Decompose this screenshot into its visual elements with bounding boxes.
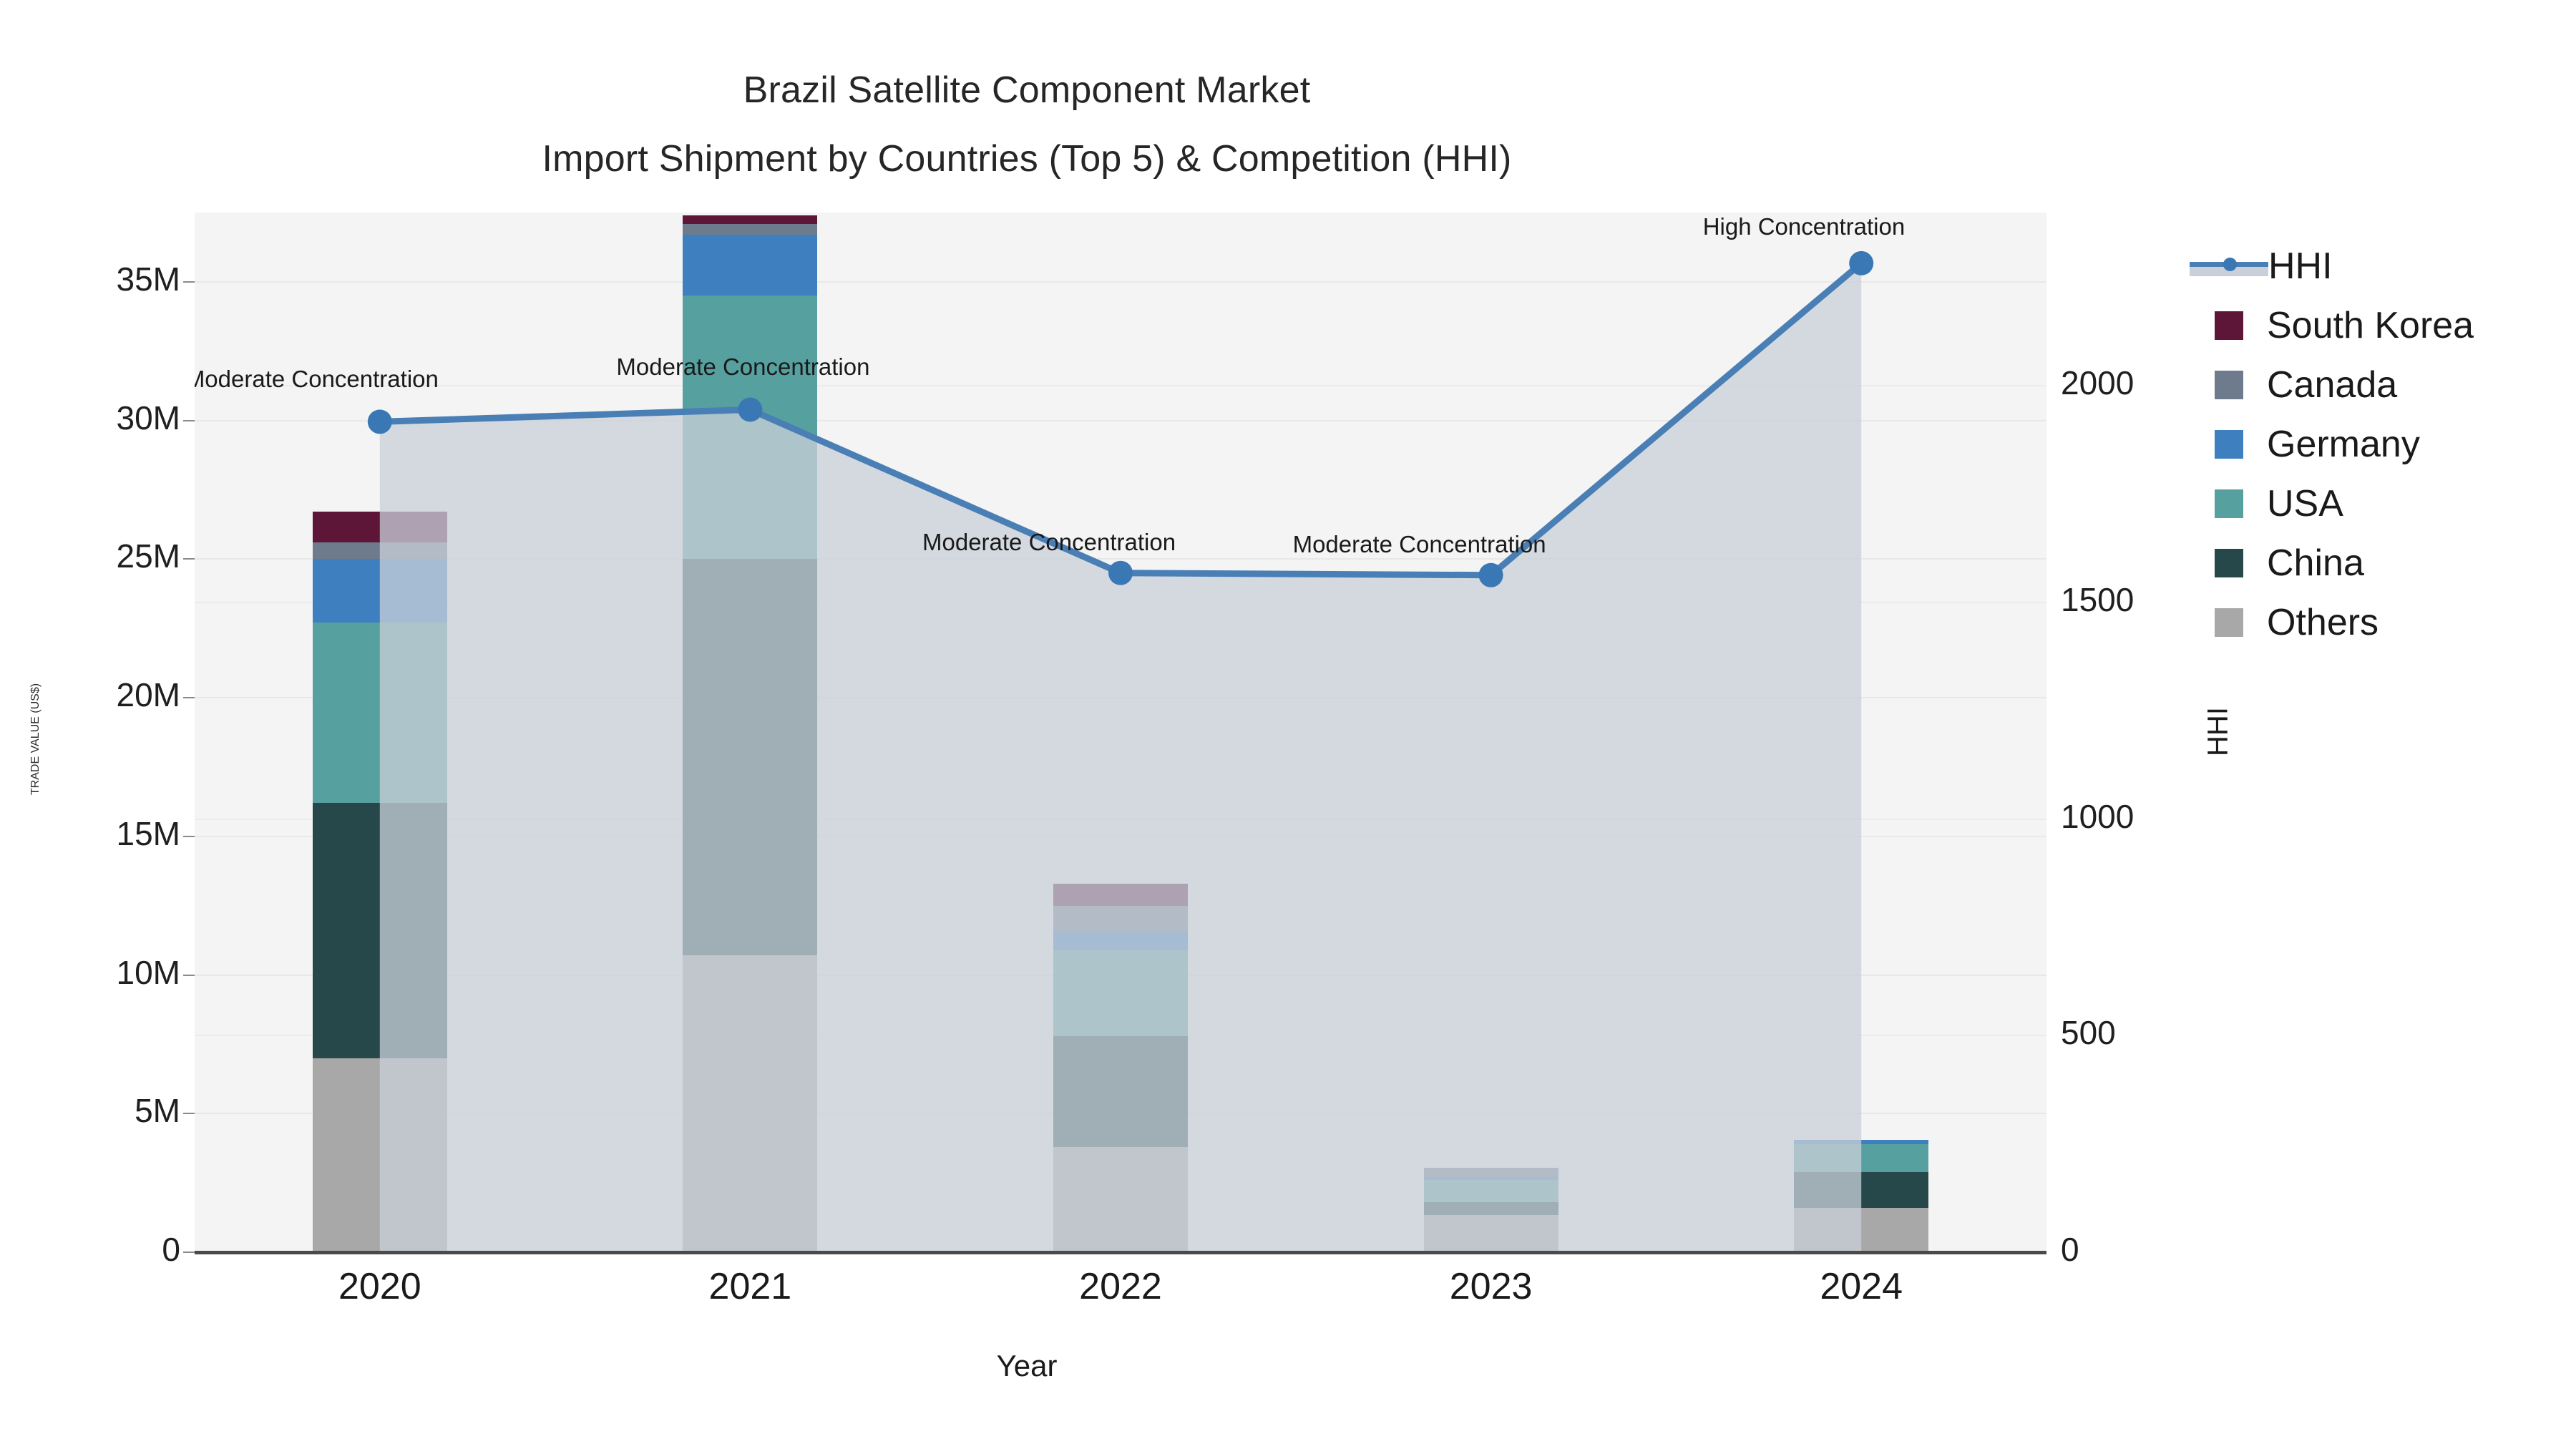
legend: HHISouth KoreaCanadaGermanyUSAChinaOther… [2190, 236, 2474, 652]
hhi-annotation-2021: Moderate Concentration [616, 353, 869, 381]
bar-segment-china[interactable] [1794, 1172, 1928, 1208]
legend-swatch-others [2215, 608, 2243, 637]
y-axis-left-tickmark [183, 1113, 195, 1114]
y-axis-left-tickmark [183, 975, 195, 976]
y-axis-left-title: TRADE VALUE (US$) [29, 525, 42, 954]
bar-segment-china[interactable] [1424, 1202, 1558, 1214]
x-axis-tick-label: 2020 [273, 1265, 487, 1308]
legend-swatch-china [2215, 549, 2243, 577]
bar-segment-usa[interactable] [1053, 950, 1188, 1036]
bar-segment-canada[interactable] [683, 224, 817, 235]
bar-segment-germany[interactable] [1794, 1140, 1928, 1144]
legend-label: Others [2267, 601, 2379, 644]
x-axis-tick-label: 2023 [1384, 1265, 1599, 1308]
legend-label: China [2267, 542, 2364, 585]
legend-label: HHI [2268, 245, 2333, 288]
bar-segment-germany[interactable] [313, 559, 447, 623]
legend-item-germany[interactable]: Germany [2190, 414, 2474, 474]
x-axis-line [195, 1251, 2046, 1254]
bar-segment-others[interactable] [1794, 1208, 1928, 1252]
legend-line-marker [2223, 258, 2237, 271]
y-axis-left-tickmark [183, 420, 195, 421]
bar-segment-canada[interactable] [1424, 1168, 1558, 1178]
hhi-annotation-2024: High Concentration [1703, 213, 1906, 240]
bar-segment-china[interactable] [683, 559, 817, 955]
bar-segment-china[interactable] [313, 803, 447, 1058]
y-axis-right-tick-label: 500 [2061, 1013, 2233, 1052]
hhi-annotation-2023: Moderate Concentration [1293, 531, 1546, 558]
bar-segment-others[interactable] [1424, 1215, 1558, 1252]
chart-root: Brazil Satellite Component Market Import… [0, 0, 2576, 1449]
bar-segment-usa[interactable] [683, 296, 817, 559]
x-axis-title: Year [0, 1349, 2054, 1383]
y-axis-left-tick-label: 5M [9, 1091, 180, 1130]
x-axis-tick-label: 2024 [1754, 1265, 1968, 1308]
bar-segment-others[interactable] [1053, 1147, 1188, 1252]
plot-area: Moderate ConcentrationModerate Concentra… [195, 213, 2046, 1252]
bar-segment-usa[interactable] [313, 623, 447, 803]
chart-title-line-1: Brazil Satellite Component Market [0, 56, 2054, 125]
plot-inner: Moderate ConcentrationModerate Concentra… [195, 213, 2046, 1252]
bar-segment-others[interactable] [313, 1058, 447, 1252]
bar-segment-usa[interactable] [1424, 1180, 1558, 1202]
y-axis-right-tick-label: 1000 [2061, 797, 2233, 836]
legend-swatch-south-korea [2215, 311, 2243, 340]
x-axis-tick-label: 2021 [643, 1265, 857, 1308]
legend-label: Germany [2267, 423, 2420, 466]
bar-segment-canada[interactable] [1053, 906, 1188, 931]
chart-title-line-2: Import Shipment by Countries (Top 5) & C… [0, 125, 2054, 193]
bar-stack-2024[interactable] [1794, 213, 1928, 1252]
legend-item-hhi[interactable]: HHI [2190, 236, 2474, 296]
bar-segment-germany[interactable] [683, 235, 817, 296]
y-axis-left-tick-label: 30M [9, 399, 180, 437]
legend-line-icon [2190, 252, 2268, 280]
y-axis-left-tick-label: 25M [9, 537, 180, 575]
y-axis-right-title: HHI [2202, 675, 2235, 789]
bar-segment-canada[interactable] [313, 542, 447, 559]
chart-title: Brazil Satellite Component Market Import… [0, 56, 2054, 193]
y-axis-left-tickmark [183, 1252, 195, 1253]
bar-segment-others[interactable] [683, 955, 817, 1252]
legend-swatch-usa [2215, 489, 2243, 518]
x-axis-tick-label: 2022 [1013, 1265, 1228, 1308]
bar-segment-south-korea[interactable] [1053, 884, 1188, 906]
y-axis-right-tick-label: 0 [2061, 1230, 2233, 1269]
y-axis-left-tick-label: 35M [9, 260, 180, 298]
legend-label: South Korea [2267, 304, 2474, 347]
y-axis-left-tick-label: 0 [9, 1230, 180, 1269]
legend-label: Canada [2267, 364, 2397, 406]
hhi-annotation-2020: Moderate Concentration [195, 366, 439, 393]
bar-segment-germany[interactable] [1053, 931, 1188, 950]
bar-segment-germany[interactable] [1424, 1177, 1558, 1180]
y-axis-left-tick-label: 10M [9, 953, 180, 992]
legend-swatch-canada [2215, 371, 2243, 399]
legend-item-south-korea[interactable]: South Korea [2190, 296, 2474, 355]
legend-item-others[interactable]: Others [2190, 592, 2474, 652]
bar-segment-china[interactable] [1053, 1036, 1188, 1147]
y-axis-left-tickmark [183, 281, 195, 283]
y-axis-left-tickmark [183, 836, 195, 837]
bar-segment-south-korea[interactable] [313, 512, 447, 542]
y-axis-left-tickmark [183, 697, 195, 698]
bar-stack-2023[interactable] [1424, 213, 1558, 1252]
legend-item-canada[interactable]: Canada [2190, 355, 2474, 414]
legend-item-usa[interactable]: USA [2190, 474, 2474, 533]
legend-item-china[interactable]: China [2190, 533, 2474, 592]
bar-segment-south-korea[interactable] [683, 215, 817, 224]
bar-segment-usa[interactable] [1794, 1144, 1928, 1172]
y-axis-left-tick-label: 15M [9, 814, 180, 853]
y-axis-left-tickmark [183, 558, 195, 560]
y-axis-left-tick-label: 20M [9, 675, 180, 714]
legend-swatch-germany [2215, 430, 2243, 459]
legend-label: USA [2267, 482, 2343, 525]
hhi-annotation-2022: Moderate Concentration [922, 529, 1176, 556]
bar-stack-2022[interactable] [1053, 213, 1188, 1252]
